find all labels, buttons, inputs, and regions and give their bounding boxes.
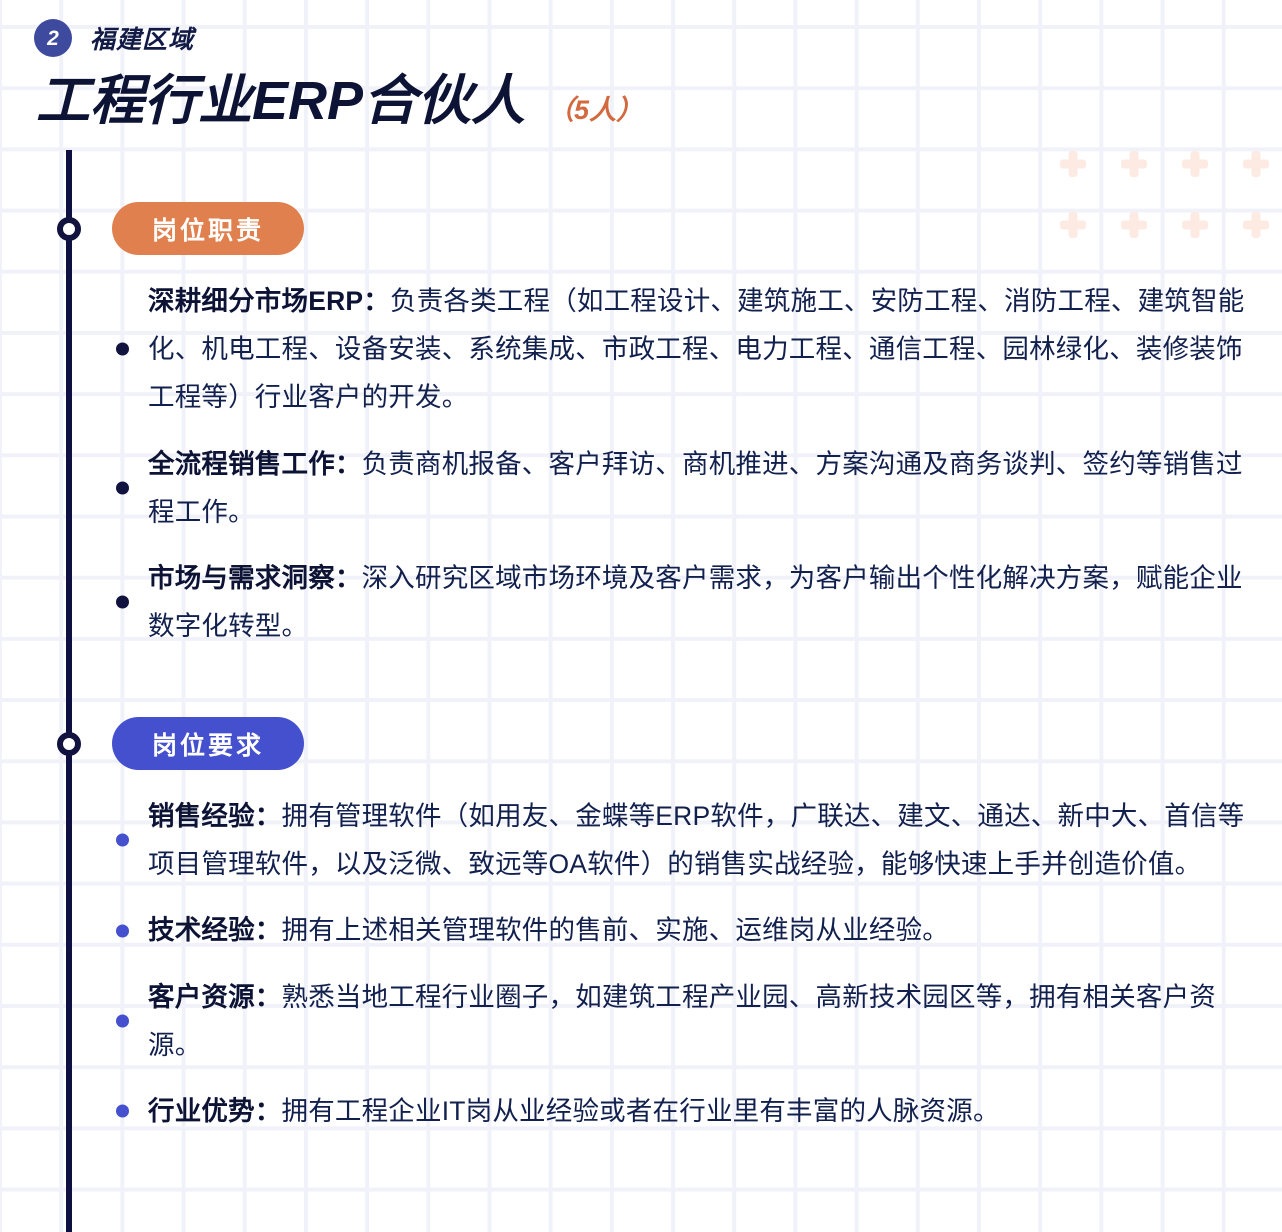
list-item-body: 熟悉当地工程行业圈子，如建筑工程产业园、高新技术园区等，拥有相关客户资源。 [148,982,1216,1060]
list-item: 客户资源：熟悉当地工程行业圈子，如建筑工程产业园、高新技术园区等，拥有相关客户资… [0,973,1282,1069]
bullet-dot-icon [116,1105,129,1118]
list-item-text: 市场与需求洞察：深入研究区域市场环境及客户需求，为客户输出个性化解决方案，赋能企… [148,554,1252,650]
timeline-marker-responsibilities [57,217,81,241]
list-item-text: 全流程销售工作：负责商机报备、客户拜访、商机推进、方案沟通及商务谈判、签约等销售… [148,440,1252,536]
page-title: 工程行业ERP合伙人 [36,72,525,131]
list-item: 全流程销售工作：负责商机报备、客户拜访、商机推进、方案沟通及商务谈判、签约等销售… [0,440,1282,536]
title-row: 工程行业ERP合伙人 （5人） [34,72,1282,131]
bullet-dot-icon [116,596,129,609]
list-item: 技术经验：拥有上述相关管理软件的售前、实施、运维岗从业经验。 [0,906,1282,954]
poster-header: 2 福建区域 工程行业ERP合伙人 （5人） [0,0,1282,131]
plus-decoration-icon [1164,133,1225,194]
region-number-badge: 2 [34,19,72,57]
list-item-lead: 市场与需求洞察： [148,563,362,593]
plus-decoration-icon [1103,133,1164,194]
section-badge-responsibilities: 岗位职责 [112,202,304,255]
list-item-body: 拥有工程企业IT岗从业经验或者在行业里有丰富的人脉资源。 [282,1096,1000,1126]
list-item-text: 销售经验：拥有管理软件（如用友、金蝶等ERP软件，广联达、建文、通达、新中大、首… [148,792,1252,888]
plus-decoration-icon [1226,133,1282,194]
section-requirements: 岗位要求 销售经验：拥有管理软件（如用友、金蝶等ERP软件，广联达、建文、通达、… [0,717,1282,1153]
list-item-text: 行业优势：拥有工程企业IT岗从业经验或者在行业里有丰富的人脉资源。 [148,1087,1252,1135]
list-item: 销售经验：拥有管理软件（如用友、金蝶等ERP软件，广联达、建文、通达、新中大、首… [0,792,1282,888]
plus-decoration-icon [1042,133,1103,194]
bullet-dot-icon [116,481,129,494]
list-item-body: 拥有上述相关管理软件的售前、实施、运维岗从业经验。 [282,915,950,945]
bullet-dot-icon [116,1014,129,1027]
region-name-label: 福建区域 [90,20,194,56]
section-badge-requirements: 岗位要求 [112,717,304,770]
list-item-text: 深耕细分市场ERP：负责各类工程（如工程设计、建筑施工、安防工程、消防工程、建筑… [148,277,1252,422]
headcount-label: （5人） [547,88,643,127]
list-item-lead: 全流程销售工作： [148,449,362,479]
list-item: 市场与需求洞察：深入研究区域市场环境及客户需求，为客户输出个性化解决方案，赋能企… [0,554,1282,650]
list-item-body: 拥有管理软件（如用友、金蝶等ERP软件，广联达、建文、通达、新中大、首信等项目管… [148,801,1244,879]
bullet-dot-icon [116,924,129,937]
section-responsibilities: 岗位职责 深耕细分市场ERP：负责各类工程（如工程设计、建筑施工、安防工程、消防… [0,202,1282,669]
list-item-text: 客户资源：熟悉当地工程行业圈子，如建筑工程产业园、高新技术园区等，拥有相关客户资… [148,973,1252,1069]
requirement-list: 销售经验：拥有管理软件（如用友、金蝶等ERP软件，广联达、建文、通达、新中大、首… [0,792,1282,1135]
list-item-lead: 销售经验： [148,801,282,831]
bullet-dot-icon [116,834,129,847]
list-item: 行业优势：拥有工程企业IT岗从业经验或者在行业里有丰富的人脉资源。 [0,1087,1282,1135]
responsibility-list: 深耕细分市场ERP：负责各类工程（如工程设计、建筑施工、安防工程、消防工程、建筑… [0,277,1282,651]
jd-poster-page: { "header": { "region_number": "2", "reg… [0,0,1282,1232]
list-item-lead: 行业优势： [148,1096,282,1126]
list-item-lead: 技术经验： [148,915,282,945]
bullet-dot-icon [116,343,129,356]
region-row: 2 福建区域 [34,16,1282,60]
list-item-lead: 深耕细分市场ERP： [148,286,390,316]
timeline-marker-requirements [57,732,81,756]
list-item: 深耕细分市场ERP：负责各类工程（如工程设计、建筑施工、安防工程、消防工程、建筑… [0,277,1282,422]
list-item-text: 技术经验：拥有上述相关管理软件的售前、实施、运维岗从业经验。 [148,906,1252,954]
list-item-lead: 客户资源： [148,982,282,1012]
